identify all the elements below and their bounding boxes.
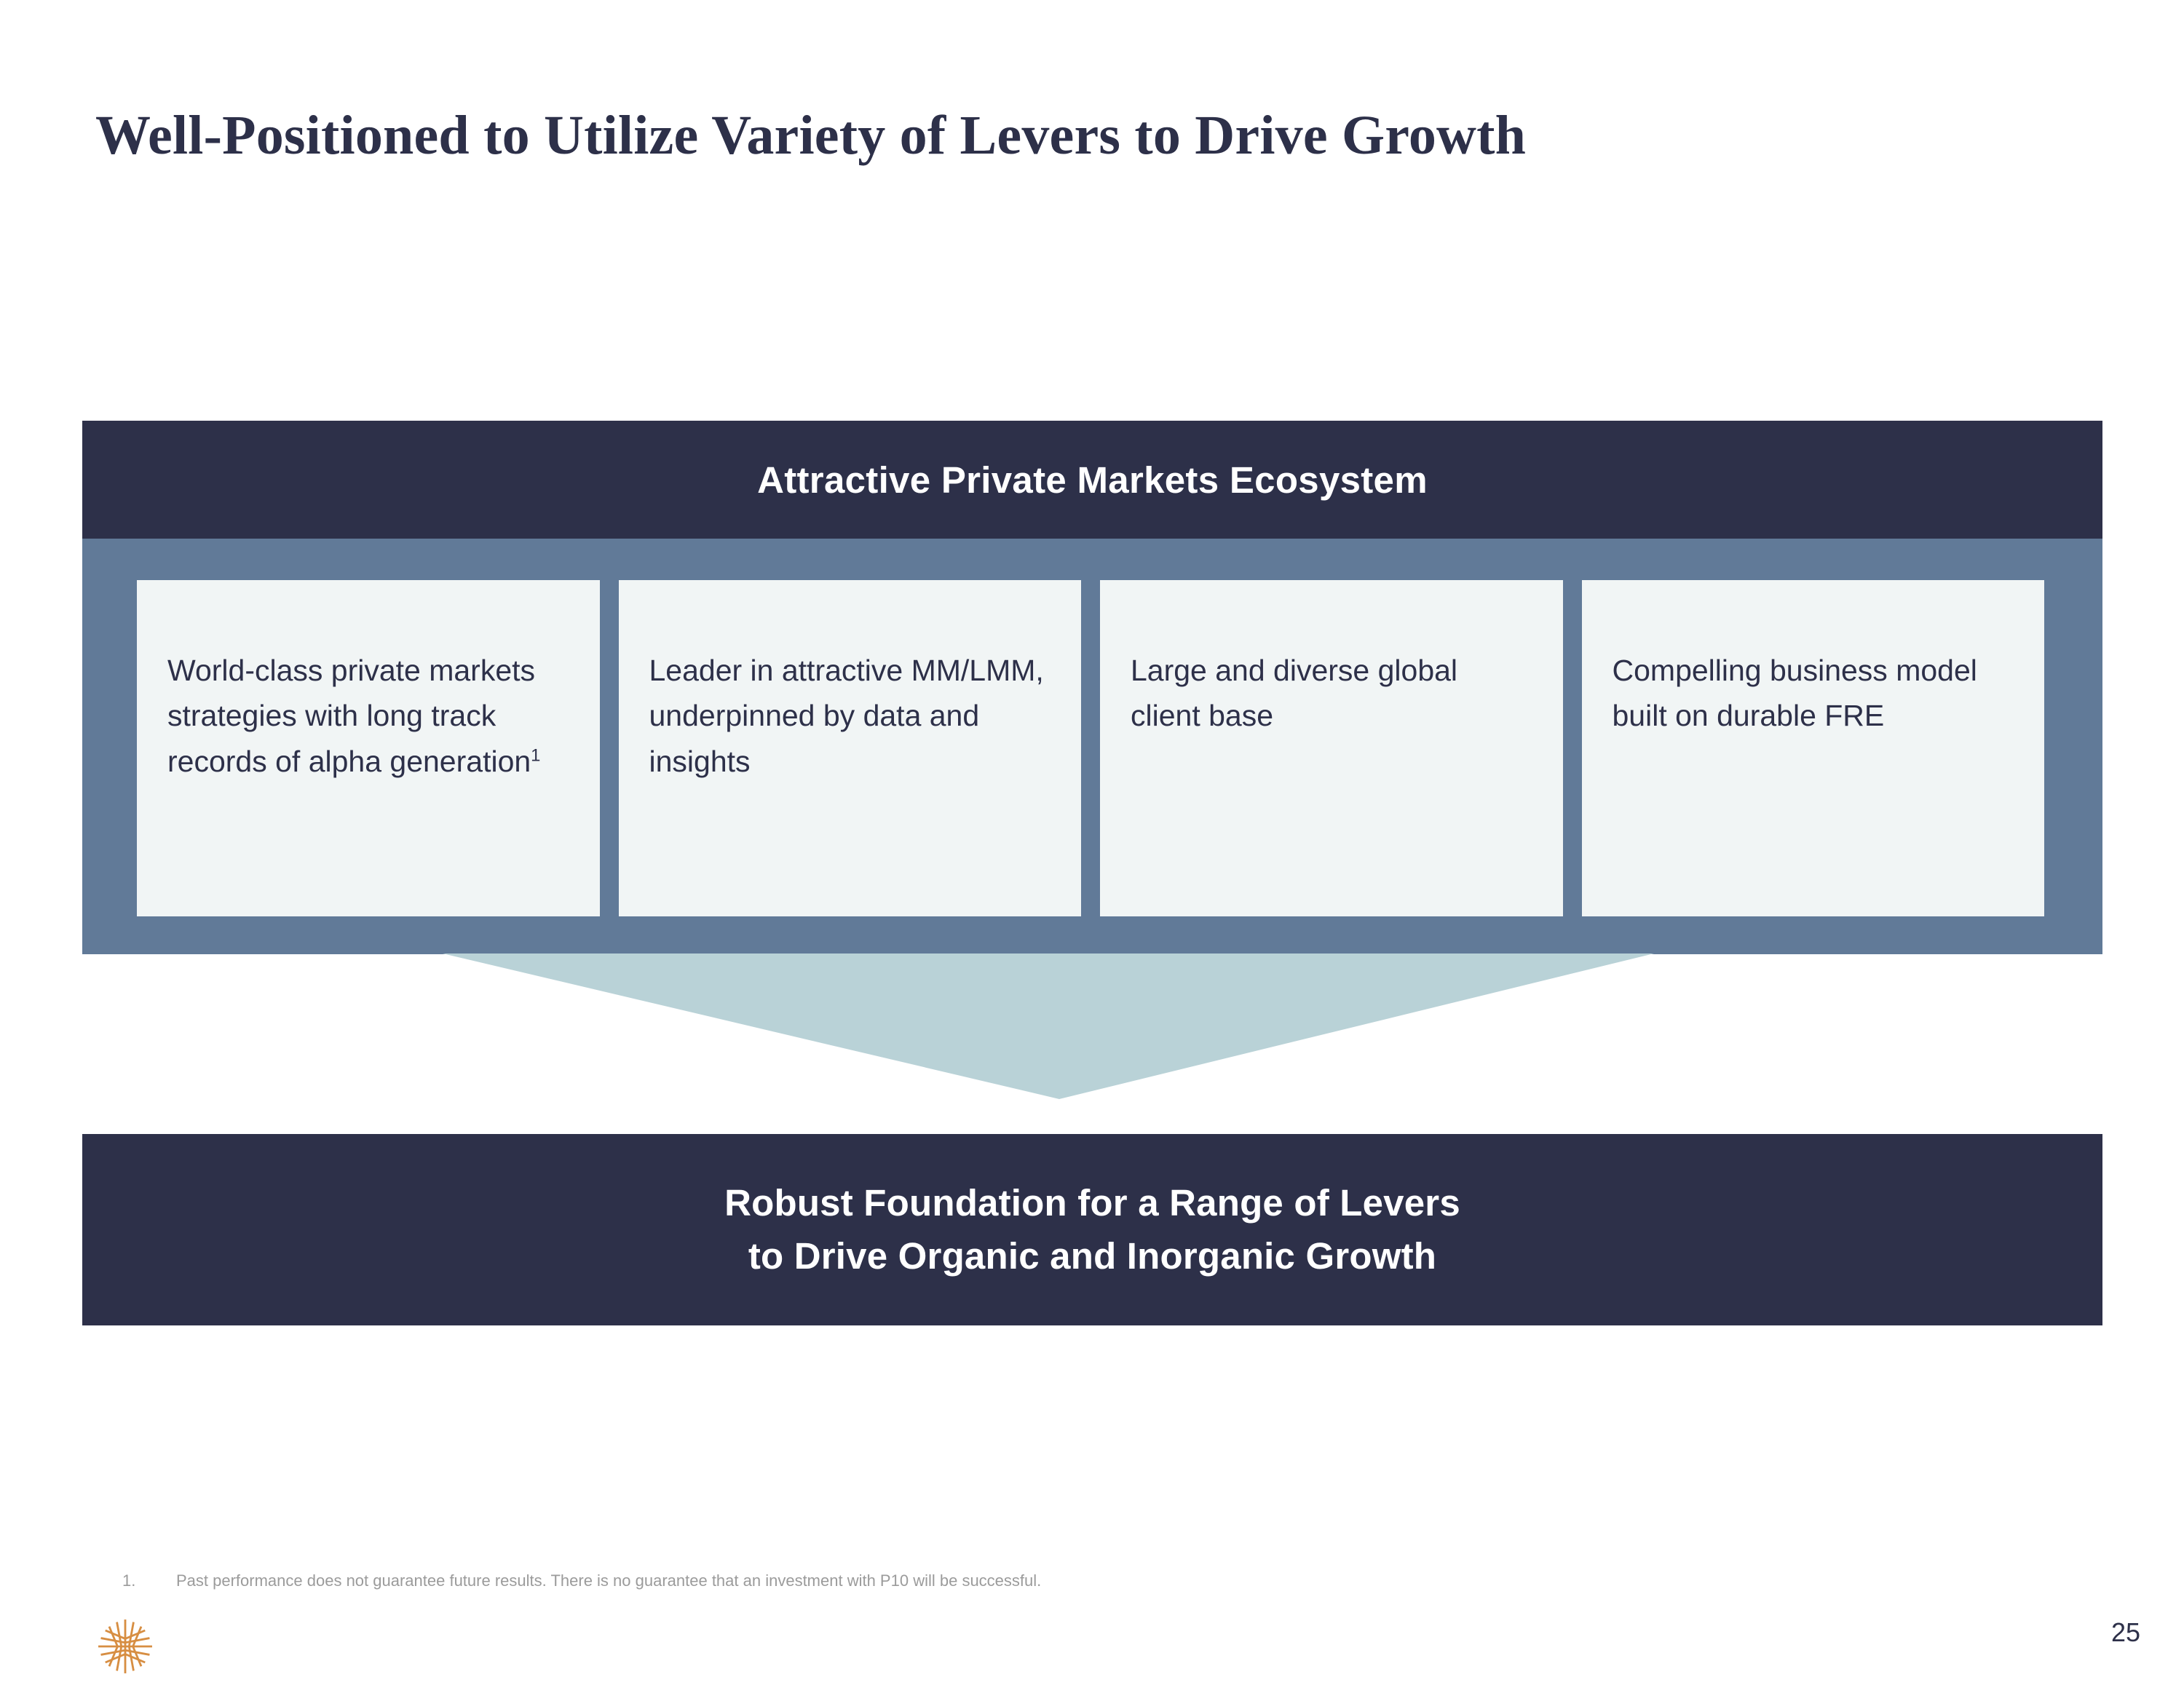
ecosystem-pillars-band: World-class private markets strategies w…: [82, 539, 2102, 954]
pillar-label-1: World-class private markets strategies w…: [167, 654, 535, 778]
foundation-banner: Robust Foundation for a Range of Levers …: [82, 1134, 2102, 1325]
pillar-card-2: Leader in attractive MM/LMM, underpinned…: [619, 580, 1082, 916]
pillar-footnote-marker-1: 1: [531, 745, 540, 765]
pillar-text-2: Leader in attractive MM/LMM, underpinned…: [649, 648, 1051, 784]
down-arrow-icon: [443, 953, 1654, 1099]
foundation-line-1: Robust Foundation for a Range of Levers: [724, 1177, 1460, 1229]
ecosystem-section: Attractive Private Markets Ecosystem Wor…: [82, 421, 2102, 954]
pillar-card-4: Compelling business model built on durab…: [1582, 580, 2045, 916]
foundation-line-2: to Drive Organic and Inorganic Growth: [748, 1230, 1436, 1282]
pillar-text-3: Large and diverse global client base: [1131, 648, 1532, 739]
footnote-marker: 1.: [122, 1571, 176, 1592]
pillar-label-2: Leader in attractive MM/LMM, underpinned…: [649, 654, 1044, 778]
footnote-text: Past performance does not guarantee futu…: [176, 1571, 1041, 1592]
p10-pinwheel-logo: [82, 1614, 168, 1678]
pillar-text-1: World-class private markets strategies w…: [167, 648, 569, 784]
ecosystem-header-label: Attractive Private Markets Ecosystem: [757, 461, 1428, 499]
pillar-label-4: Compelling business model built on durab…: [1613, 654, 1977, 732]
pillar-text-4: Compelling business model built on durab…: [1613, 648, 2014, 739]
page-title: Well-Positioned to Utilize Variety of Le…: [95, 107, 1526, 165]
ecosystem-header-bar: Attractive Private Markets Ecosystem: [82, 421, 2102, 539]
pillar-card-3: Large and diverse global client base: [1100, 580, 1563, 916]
pillar-card-1: World-class private markets strategies w…: [137, 580, 600, 916]
pillar-label-3: Large and diverse global client base: [1131, 654, 1457, 732]
footnote: 1. Past performance does not guarantee f…: [122, 1571, 1041, 1592]
page-number: 25: [2053, 1617, 2140, 1648]
